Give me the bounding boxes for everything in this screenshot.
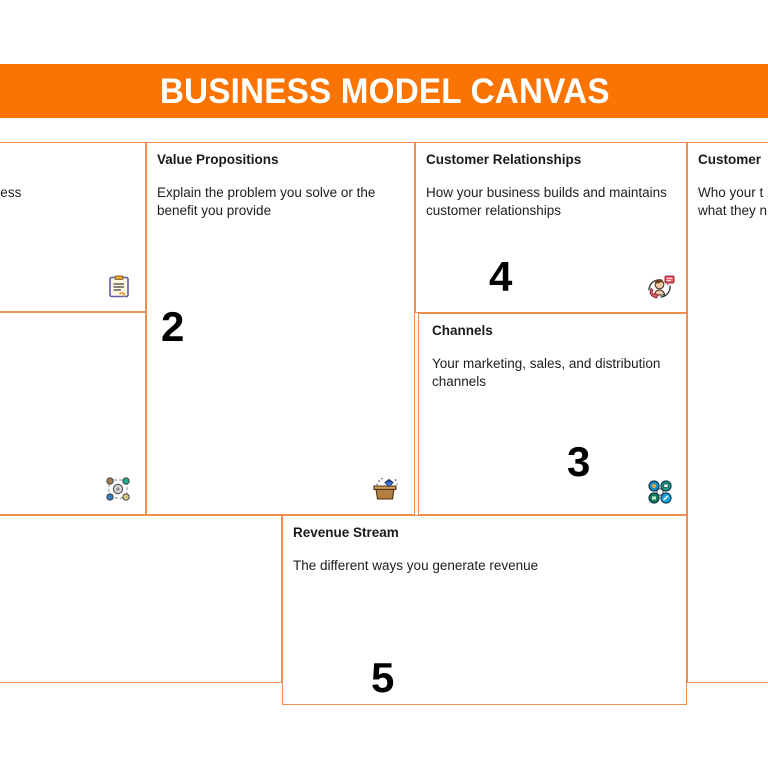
block-key-activities-description: keep your business [0,184,135,202]
block-value-propositions[interactable]: Value Propositions Explain the problem y… [146,142,415,515]
block-revenue-stream-description: The different ways you generate revenue [293,557,676,575]
network-gear-icon [105,476,131,502]
block-cost-structure-content [0,516,281,682]
block-customer-relationships-title: Customer Relationships [426,152,676,168]
support-agent-icon [646,274,676,302]
block-revenue-stream-title: Revenue Stream [293,525,676,541]
block-key-activities-title: Key Activities [0,152,135,168]
block-key-activities[interactable]: Key Activities keep your business [0,142,146,312]
clipboard-checklist-icon [107,275,131,299]
block-value-propositions-content: Value Propositions Explain the problem y… [147,143,414,514]
page-title: BUSINESS MODEL CANVAS [160,74,610,109]
block-revenue-stream-content: Revenue Stream The different ways you ge… [283,516,686,704]
block-key-resources[interactable]: rces and assets eeds [0,312,146,515]
block-customer-segments[interactable]: Customer Who your t what they n [687,142,768,683]
block-channels-title: Channels [432,323,676,339]
block-value-propositions-number: 2 [161,306,183,348]
block-channels-description: Your marketing, sales, and distribution … [432,355,676,391]
block-channels-number: 3 [567,441,589,483]
block-customer-relationships[interactable]: Customer Relationships How your business… [415,142,687,313]
block-channels[interactable]: Channels Your marketing, sales, and dist… [418,313,687,515]
block-customer-segments-description: Who your t what they n [698,184,768,220]
block-value-propositions-title: Value Propositions [157,152,404,168]
block-key-resources-description: rces and assets eeds [0,397,135,433]
block-customer-segments-title: Customer [698,152,768,168]
gift-box-gem-icon [370,476,400,502]
block-revenue-stream-number: 5 [371,657,393,699]
block-customer-relationships-description: How your business builds and maintains c… [426,184,676,220]
block-customer-relationships-number: 4 [489,256,511,298]
distribution-nodes-icon [646,479,674,505]
business-model-canvas: BUSINESS MODEL CANVAS Key Activities kee… [0,0,768,768]
block-revenue-stream[interactable]: Revenue Stream The different ways you ge… [282,515,687,705]
block-cost-structure[interactable] [0,515,282,683]
canvas-header-banner: BUSINESS MODEL CANVAS [0,64,768,118]
block-value-propositions-description: Explain the problem you solve or the ben… [157,184,404,220]
block-customer-segments-content: Customer Who your t what they n [688,143,768,682]
